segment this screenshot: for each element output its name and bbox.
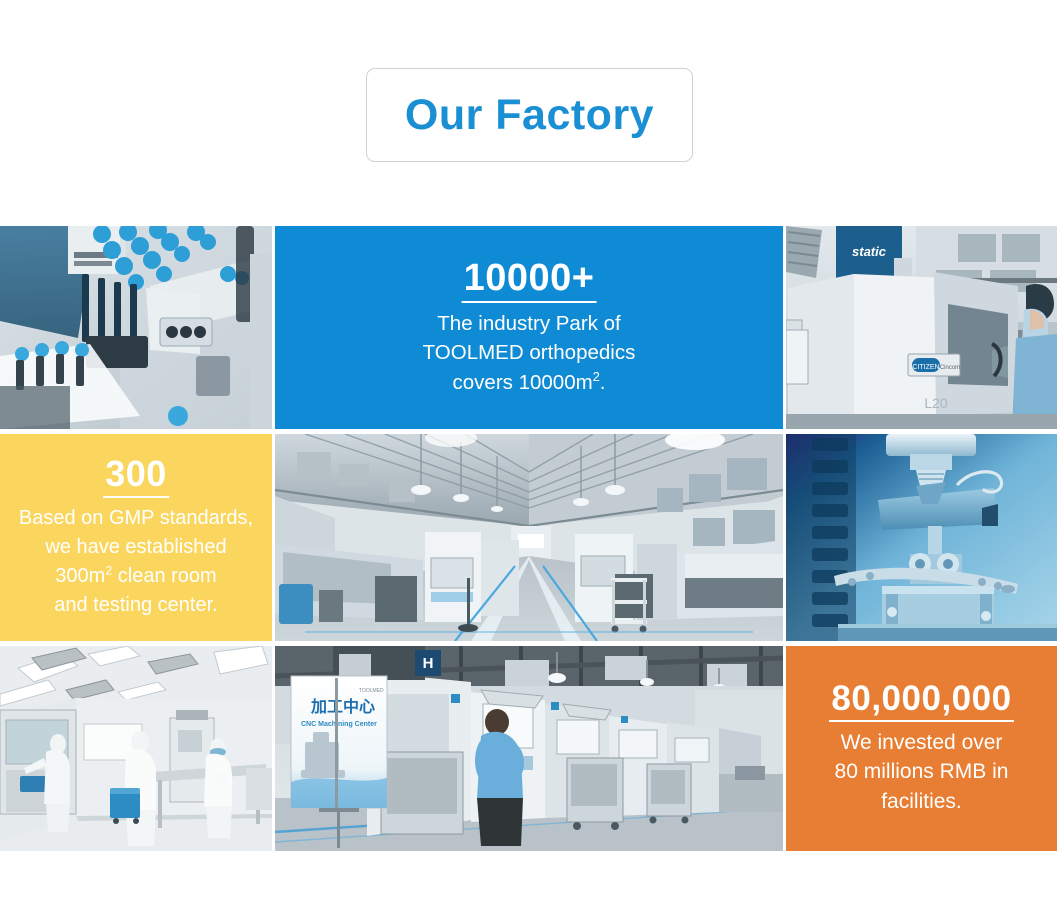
machining-center-photo: H bbox=[275, 646, 783, 851]
cnc-lathe-operator-photo: static CITIZEN Cincom L20 bbox=[786, 226, 1057, 429]
cnc-tooling-image bbox=[0, 226, 272, 429]
cnc-tooling-closeup-photo bbox=[0, 226, 272, 429]
stat-cleanroom-number: 300 bbox=[105, 455, 167, 498]
svg-text:static: static bbox=[852, 244, 887, 259]
stat-area-number: 10000+ bbox=[464, 258, 595, 303]
stat-area-line-2: TOOLMED orthopedics bbox=[423, 338, 636, 367]
stat-cleanroom-line-2: we have established bbox=[19, 533, 253, 562]
mechanical-testing-image bbox=[786, 434, 1057, 641]
stat-cleanroom-description: Based on GMP standards, we have establis… bbox=[19, 504, 253, 620]
cnc-lathe-image: static CITIZEN Cincom L20 bbox=[786, 226, 1057, 429]
stat-investment: 80,000,000 We invested over 80 millions … bbox=[786, 646, 1057, 851]
stat-area-line-1: The industry Park of bbox=[423, 309, 636, 338]
clean-room-image bbox=[0, 646, 272, 851]
page-header: Our Factory bbox=[0, 0, 1059, 226]
svg-text:H: H bbox=[423, 655, 434, 672]
stat-area: 10000+ The industry Park of TOOLMED orth… bbox=[275, 226, 783, 429]
svg-text:CITIZEN: CITIZEN bbox=[912, 364, 939, 371]
stat-cleanroom: 300 Based on GMP standards, we have esta… bbox=[0, 434, 272, 641]
machining-center-image: H bbox=[275, 646, 783, 851]
stat-investment-description: We invested over 80 millions RMB in faci… bbox=[835, 728, 1009, 817]
stat-investment-line-1: We invested over bbox=[835, 728, 1009, 758]
svg-text:L20: L20 bbox=[924, 395, 948, 411]
stat-area-line-3: covers 10000m2. bbox=[423, 368, 636, 397]
svg-text:Cincom: Cincom bbox=[940, 365, 960, 371]
stat-area-description: The industry Park of TOOLMED orthopedics… bbox=[423, 309, 636, 396]
mechanical-testing-machine-photo bbox=[786, 434, 1057, 641]
page-title: Our Factory bbox=[405, 94, 654, 137]
stat-cleanroom-line-1: Based on GMP standards, bbox=[19, 504, 253, 533]
svg-text:CNC Machining Center: CNC Machining Center bbox=[301, 721, 377, 728]
stat-cleanroom-line-3: 300m2 clean room bbox=[19, 562, 253, 591]
factory-floor-panorama-photo bbox=[275, 434, 783, 641]
svg-text:TOOLMED: TOOLMED bbox=[359, 688, 384, 694]
factory-gallery-grid: 10000+ The industry Park of TOOLMED orth… bbox=[0, 226, 1059, 850]
stat-investment-line-2: 80 millions RMB in bbox=[835, 757, 1009, 787]
page-title-box: Our Factory bbox=[366, 68, 693, 162]
our-factory-page: Our Factory bbox=[0, 0, 1059, 905]
clean-room-photo bbox=[0, 646, 272, 851]
stat-investment-number: 80,000,000 bbox=[831, 680, 1011, 722]
stat-investment-line-3: facilities. bbox=[835, 787, 1009, 817]
svg-text:加工中心: 加工中心 bbox=[310, 697, 375, 716]
factory-floor-image bbox=[275, 434, 783, 641]
stat-cleanroom-line-4: and testing center. bbox=[19, 591, 253, 620]
